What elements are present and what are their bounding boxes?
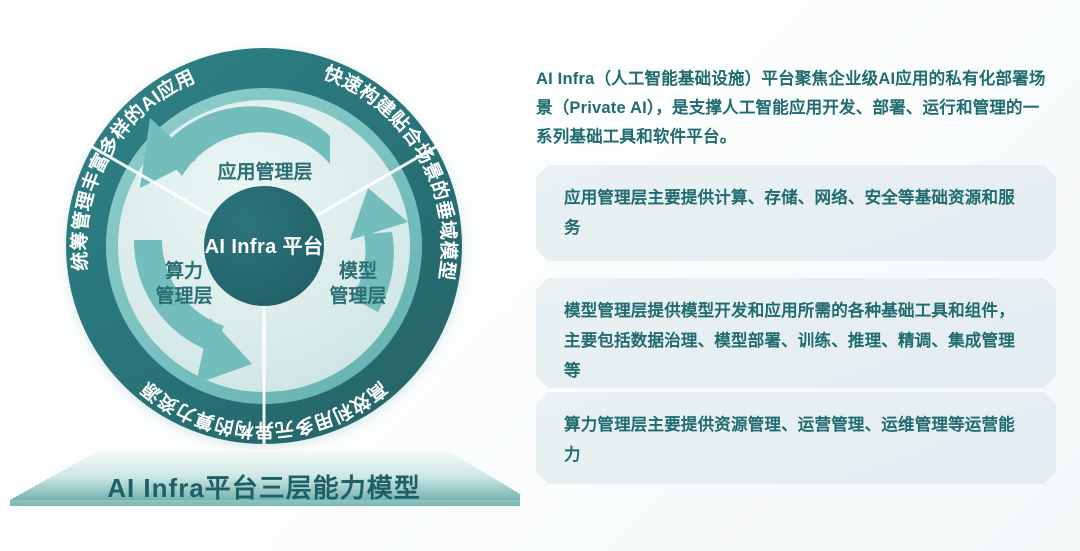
info-card-application-layer: 应用管理层主要提供计算、存储、网络、安全等基础资源和服务	[536, 165, 1056, 261]
layer-label-model-line1: 模型	[339, 259, 377, 282]
info-card-model-layer: 模型管理层提供模型开发和应用所需的各种基础工具和组件，主要包括数据治理、模型部署…	[536, 278, 1056, 388]
info-panel: AI Infra（人工智能基础设施）平台聚焦企业级AI应用的私有化部署场景（Pr…	[520, 0, 1080, 551]
info-card-compute-layer: 算力管理层主要提供资源管理、运营管理、运维管理等运营能力	[536, 392, 1056, 484]
wheel-svg: AI Infra平台三层能力模型	[0, 0, 520, 551]
info-card-text: 模型管理层提供模型开发和应用所需的各种基础工具和组件，主要包括数据治理、模型部署…	[564, 296, 1030, 386]
page-root: AI Infra平台三层能力模型	[0, 0, 1080, 551]
intro-paragraph: AI Infra（人工智能基础设施）平台聚焦企业级AI应用的私有化部署场景（Pr…	[536, 65, 1052, 152]
diagram-title: AI Infra平台三层能力模型	[107, 473, 421, 503]
info-card-text: 算力管理层主要提供资源管理、运营管理、运维管理等运营能力	[564, 410, 1030, 470]
info-card-text: 应用管理层主要提供计算、存储、网络、安全等基础资源和服务	[564, 183, 1030, 243]
layer-label-compute-line1: 算力	[165, 259, 203, 282]
layer-label-model-line2: 管理层	[329, 284, 386, 307]
layer-label-application: 应用管理层	[217, 160, 312, 183]
capability-model-diagram: AI Infra平台三层能力模型	[0, 0, 520, 551]
hub-label: AI Infra 平台	[205, 234, 324, 258]
layer-label-compute-line2: 管理层	[155, 284, 212, 307]
